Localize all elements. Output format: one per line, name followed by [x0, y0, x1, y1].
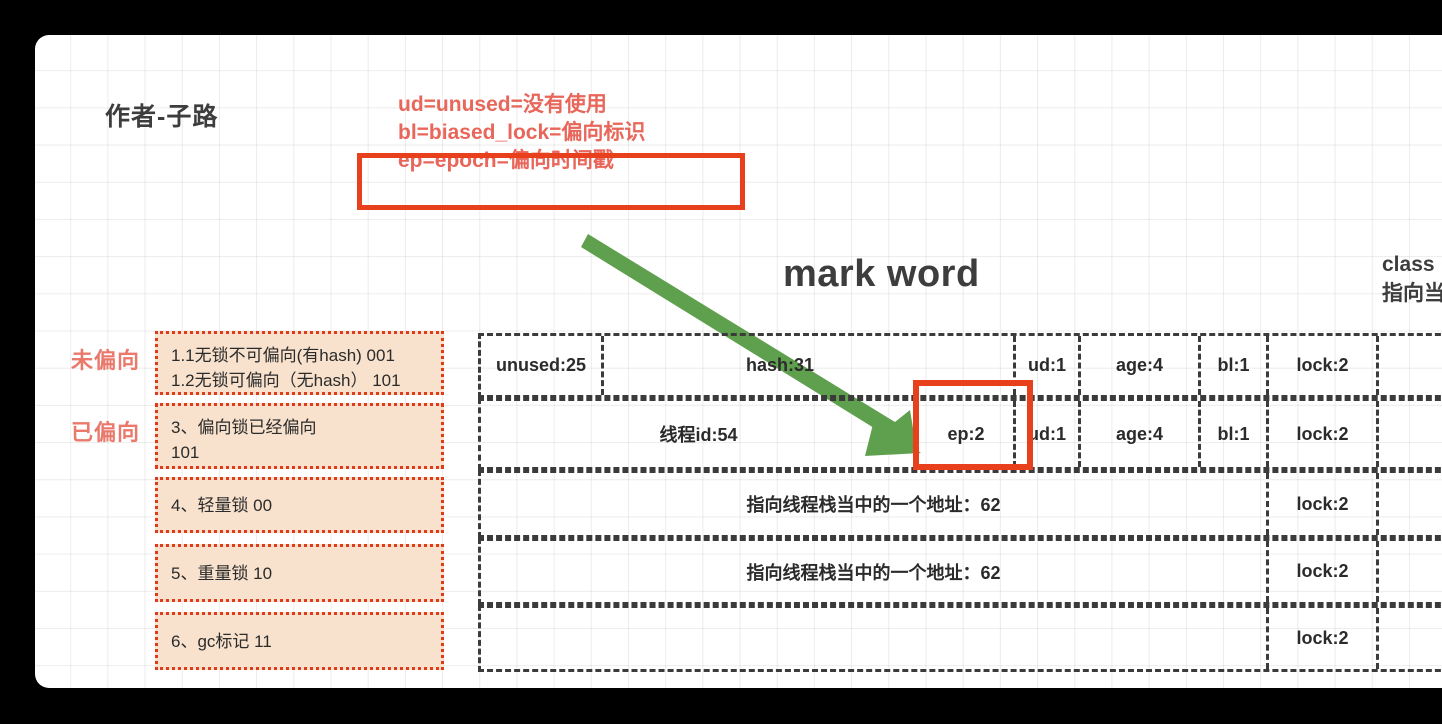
- whiteboard-canvas: 作者-子路 ud=unused=没有使用 bl=biased_lock=偏向标识…: [35, 35, 1442, 688]
- table-cell: lock:2: [1266, 541, 1376, 602]
- state-box-line: 6、gc标记 11: [171, 629, 272, 654]
- state-box: 4、轻量锁 00: [155, 477, 444, 533]
- table-cell: unused:25: [481, 336, 601, 395]
- table-cell: lock:2: [1266, 608, 1376, 669]
- author-label: 作者-子路: [105, 97, 218, 133]
- state-box-line: 1.1无锁不可偏向(有hash) 001: [171, 343, 428, 368]
- table-cell: age:4: [1078, 336, 1198, 395]
- table-cell: lock:2: [1266, 473, 1376, 535]
- table-cell: bl:1: [1198, 401, 1266, 467]
- table-row: lock:2: [478, 605, 1442, 672]
- table-cell: lock:2: [1266, 336, 1376, 395]
- state-box: 5、重量锁 10: [155, 544, 444, 602]
- state-box-line: 3、偏向锁已经偏向: [171, 415, 428, 440]
- table-cell: [1376, 608, 1442, 669]
- table-cell: [1376, 541, 1442, 602]
- table-cell: [1376, 473, 1442, 535]
- state-box: 3、偏向锁已经偏向 101: [155, 403, 444, 469]
- epoch-legend-highlight-box: [357, 153, 745, 210]
- table-cell: lock:2: [1266, 401, 1376, 467]
- table-cell: [1376, 336, 1442, 395]
- table-cell: age:4: [1078, 401, 1198, 467]
- class-pointer-caption: class 指向当: [1382, 250, 1442, 308]
- table-cell: 线程id:54: [481, 401, 916, 467]
- table-cell: [481, 608, 1266, 669]
- table-cell: [1376, 401, 1442, 467]
- page-title: mark word: [783, 253, 980, 296]
- status-label-unbiased: 未偏向: [71, 343, 140, 375]
- state-box-line: 4、轻量锁 00: [171, 493, 272, 518]
- epoch-cell-highlight-box: [913, 380, 1033, 470]
- status-label-biased: 已偏向: [71, 415, 140, 447]
- state-box-line: 5、重量锁 10: [171, 561, 272, 586]
- table-cell: hash:31: [601, 336, 956, 395]
- state-box-line: 1.2无锁可偏向（无hash） 101: [171, 368, 428, 393]
- table-cell: bl:1: [1198, 336, 1266, 395]
- state-box: 6、gc标记 11: [155, 612, 444, 670]
- table-cell: 指向线程栈当中的一个地址：62: [481, 541, 1266, 602]
- state-box-line: 101: [171, 440, 428, 465]
- table-row: 指向线程栈当中的一个地址：62lock:2: [478, 470, 1442, 538]
- state-box: 1.1无锁不可偏向(有hash) 001 1.2无锁可偏向（无hash） 101: [155, 331, 444, 395]
- table-cell: 指向线程栈当中的一个地址：62: [481, 473, 1266, 535]
- screenshot-root: 作者-子路 ud=unused=没有使用 bl=biased_lock=偏向标识…: [0, 0, 1442, 724]
- table-row: 指向线程栈当中的一个地址：62lock:2: [478, 538, 1442, 605]
